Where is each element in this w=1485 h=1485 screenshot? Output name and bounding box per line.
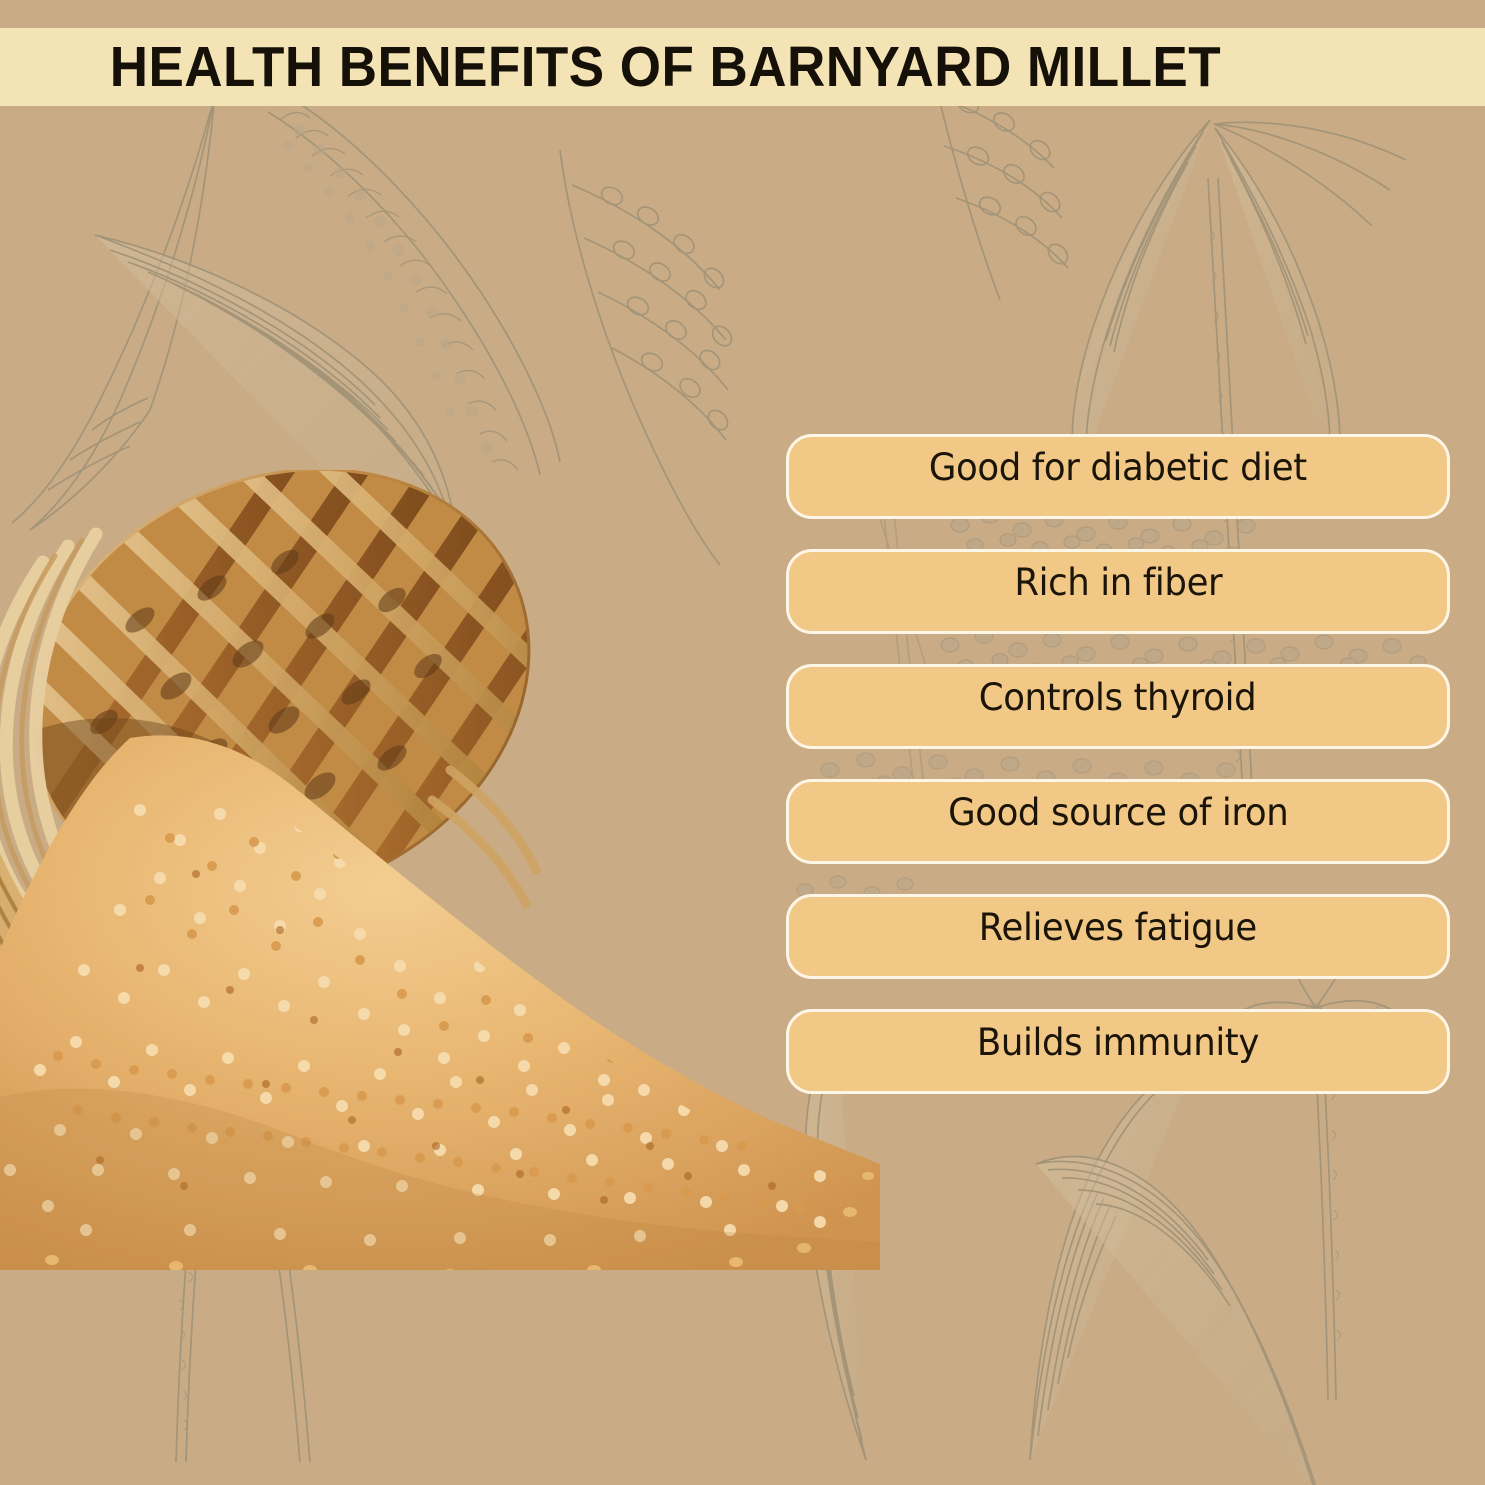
millet-panicle-sketch [268, 104, 560, 475]
page-title: HEALTH BENEFITS OF BARNYARD MILLET [0, 39, 1221, 96]
benefit-item-3[interactable]: Controls thyroid [786, 664, 1450, 749]
millet-stem-sketch [278, 1148, 404, 1462]
millet-leaf-sketch [1036, 1157, 1318, 1485]
benefit-item-1[interactable]: Good for diabetic diet [786, 434, 1450, 519]
millet-leaf-sketch [1072, 120, 1406, 482]
cloth-under-basket [0, 982, 130, 1130]
benefits-list: Good for diabetic diet Rich in fiber Con… [786, 434, 1450, 1094]
benefit-label: Rich in fiber [1014, 561, 1222, 605]
bamboo-basket [0, 470, 880, 1060]
benefit-label: Controls thyroid [979, 676, 1256, 720]
product-photo-basket-with-millet [0, 470, 880, 1270]
infographic-canvas: HEALTH BENEFITS OF BARNYARD MILLET Good … [0, 0, 1485, 1485]
benefit-label: Relieves fatigue [979, 906, 1257, 950]
benefit-label: Good source of iron [948, 791, 1288, 835]
millet-stem-sketch [110, 1118, 270, 1462]
benefit-item-4[interactable]: Good source of iron [786, 779, 1450, 864]
millet-seedhead-sketch [560, 150, 735, 565]
millet-grain-pile [0, 735, 880, 1270]
millet-leaf-sketch [12, 95, 215, 530]
millet-leaf-sketch [806, 1030, 866, 1460]
benefit-label: Builds immunity [977, 1021, 1259, 1065]
benefit-label: Good for diabetic diet [929, 446, 1307, 490]
millet-leaf-sketch [95, 235, 456, 600]
benefit-item-2[interactable]: Rich in fiber [786, 549, 1450, 634]
benefit-item-6[interactable]: Builds immunity [786, 1009, 1450, 1094]
scattered-grains [45, 1172, 874, 1270]
benefit-item-5[interactable]: Relieves fatigue [786, 894, 1450, 979]
title-banner: HEALTH BENEFITS OF BARNYARD MILLET [0, 28, 1485, 106]
millet-leaf-sketch [1030, 1044, 1200, 1460]
